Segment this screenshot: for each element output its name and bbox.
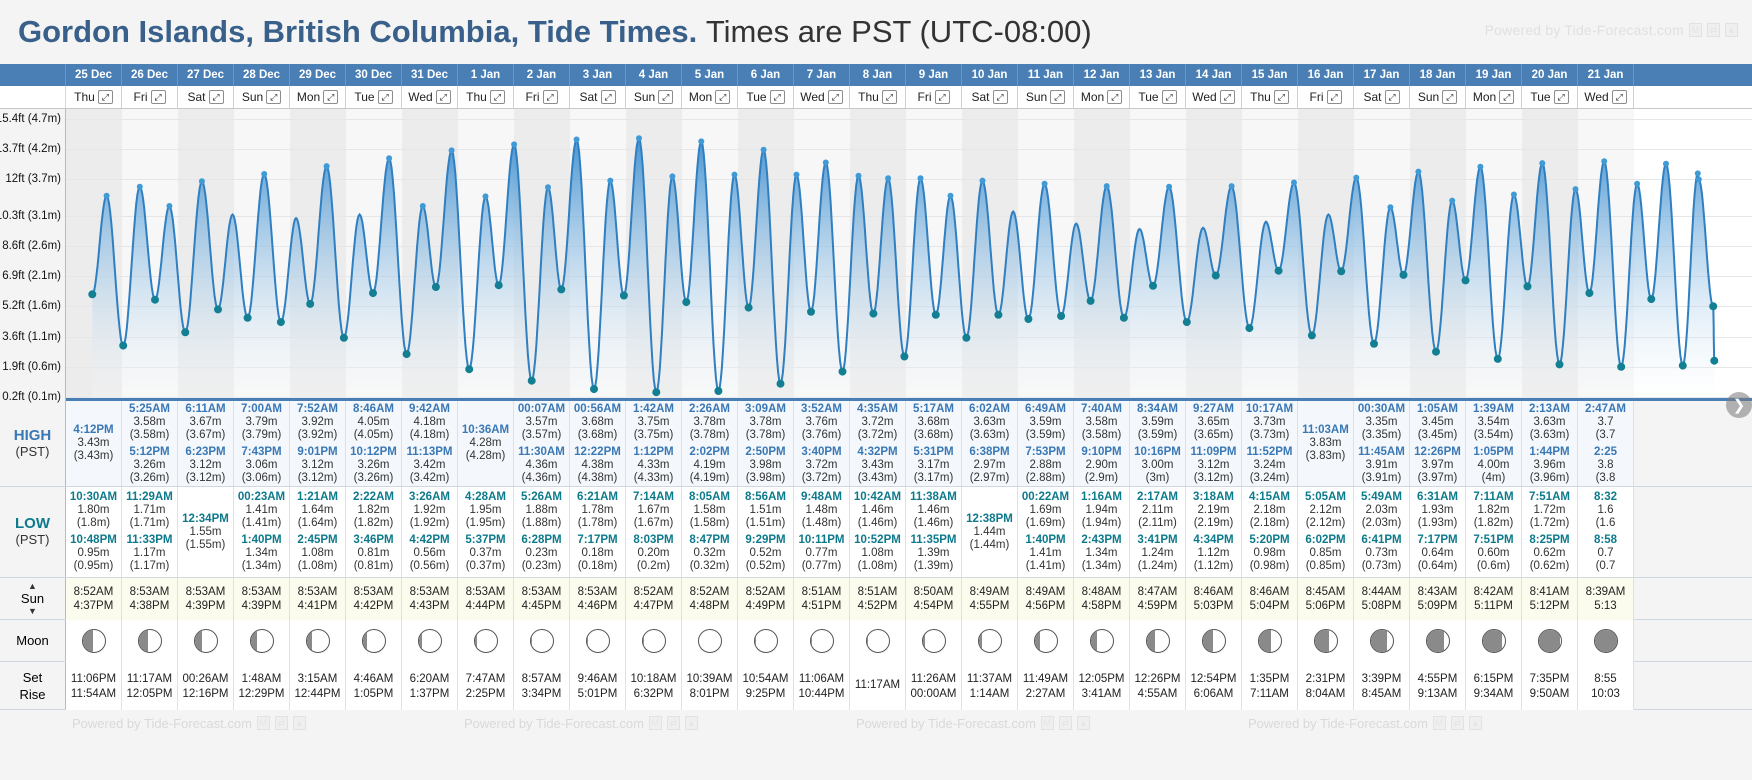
- expand-day-icon[interactable]: ⤢: [993, 90, 1008, 104]
- footer-brand-text: Powered by Tide-Forecast.com: [1248, 716, 1428, 731]
- high-tide-height: 2.88m: [1030, 459, 1062, 472]
- high-tide-cell[interactable]: 2:26AM3.78m(3.78m)2:02PM4.19m(4.19m): [682, 401, 738, 486]
- day-header-cell[interactable]: Mon⤢: [1466, 86, 1522, 108]
- high-tide-cell[interactable]: 2:13AM3.63m(3.63m)1:44PM3.96m(3.96m): [1522, 401, 1578, 486]
- low-tide-time: 8:03PM: [633, 534, 673, 547]
- date-header-cell[interactable]: 18 Jan: [1410, 64, 1466, 86]
- day-header-cell[interactable]: Fri⤢: [514, 86, 570, 108]
- day-header-cell[interactable]: Mon⤢: [682, 86, 738, 108]
- date-header-cell[interactable]: 29 Dec: [290, 64, 346, 86]
- date-header-cell[interactable]: 27 Dec: [178, 64, 234, 86]
- low-tide-tz: (PST): [16, 532, 50, 548]
- high-tide-marker: [794, 172, 800, 178]
- high-tide-cell[interactable]: 10:17AM3.73m(3.73m)11:52PM3.24m(3.24m): [1242, 401, 1298, 486]
- moon-phase-icon: [586, 629, 610, 653]
- moon-setrise-cell: 11:17AM: [850, 662, 906, 710]
- low-tide-cell[interactable]: 2:17AM2.11m(2.11m)3:41PM1.24m(1.24m): [1130, 487, 1186, 577]
- low-tide-event: 3:26AM1.92m(1.92m): [409, 491, 450, 530]
- low-tide-cell[interactable]: 12:34PM1.55m(1.55m): [178, 487, 234, 577]
- high-tide-time: 3:09AM: [745, 403, 786, 416]
- moon-setrise-cell: 9:46AM5:01PM: [570, 662, 626, 710]
- sunrise-time: 8:53AM: [242, 586, 282, 598]
- day-header-cell[interactable]: Tue⤢: [738, 86, 794, 108]
- moon-shadow: [475, 629, 477, 653]
- low-tide-cell[interactable]: 6:21AM1.78m(1.78m)7:17PM0.18m(0.18m): [570, 487, 626, 577]
- expand-day-icon[interactable]: ⤢: [490, 90, 505, 104]
- sun-cell: 8:53AM4:39PM: [234, 578, 290, 620]
- low-tide-time: 8:58: [1594, 534, 1617, 547]
- moon-setrise-cell: 10:39AM8:01PM: [682, 662, 738, 710]
- high-tide-cell[interactable]: 1:39AM3.54m(3.54m)1:05PM4.00m(4m): [1466, 401, 1522, 486]
- moonrise-time: 3:41AM: [1082, 688, 1122, 700]
- high-tide-event: 11:03AM3.83m(3.83m): [1302, 424, 1349, 463]
- day-header-row: Thu⤢Fri⤢Sat⤢Sun⤢Mon⤢Tue⤢Wed⤢Thu⤢Fri⤢Sat⤢…: [0, 86, 1752, 109]
- high-tide-time: 11:03AM: [1302, 424, 1349, 437]
- moon-shadow: [923, 629, 925, 653]
- low-tide-time: 11:38AM: [910, 491, 957, 504]
- high-tide-marker: [1696, 176, 1702, 182]
- high-tide-height-alt: (3.7: [1596, 429, 1616, 442]
- high-tide-time: 12:22PM: [574, 446, 621, 459]
- moon-cell: [626, 620, 682, 662]
- day-header-cell[interactable]: Sat⤢: [178, 86, 234, 108]
- low-tide-cell[interactable]: 11:29AM1.71m(1.71m)11:33PM1.17m(1.17m): [122, 487, 178, 577]
- high-tide-height: 3.45m: [1422, 416, 1454, 429]
- expand-day-icon[interactable]: ⤢: [770, 90, 785, 104]
- low-tide-marker: [528, 377, 536, 385]
- high-tide-cell[interactable]: 11:03AM3.83m(3.83m): [1298, 401, 1354, 486]
- low-tide-height-alt: (1.82m): [1474, 517, 1514, 530]
- low-tide-marker: [1556, 360, 1564, 368]
- expand-day-icon[interactable]: ⤢: [1327, 90, 1342, 104]
- high-tide-event: 10:17AM3.73m(3.73m): [1246, 403, 1293, 442]
- high-tide-time: 2:50PM: [745, 446, 785, 459]
- low-tide-time: 1:21AM: [297, 491, 338, 504]
- day-header-cell[interactable]: Mon⤢: [1074, 86, 1130, 108]
- high-tide-height-alt: (3.79m): [242, 429, 282, 442]
- high-tide-cell[interactable]: 9:27AM3.65m(3.65m)11:09PM3.12m(3.12m): [1186, 401, 1242, 486]
- date-header-cell[interactable]: 2 Jan: [514, 64, 570, 86]
- date-header-cell[interactable]: 4 Jan: [626, 64, 682, 86]
- date-header-cell[interactable]: 5 Jan: [682, 64, 738, 86]
- low-tide-height: 1.93m: [1422, 504, 1454, 517]
- scroll-next-button[interactable]: ❯: [1726, 392, 1752, 418]
- moonrise-time: 8:45AM: [1362, 688, 1402, 700]
- expand-day-icon[interactable]: ⤢: [828, 90, 843, 104]
- high-tide-cell[interactable]: 5:17AM3.68m(3.68m)5:31PM3.17m(3.17m): [906, 401, 962, 486]
- date-header-cell[interactable]: 11 Jan: [1018, 64, 1074, 86]
- low-tide-time: 7:14AM: [633, 491, 674, 504]
- low-tide-cell[interactable]: 5:05AM2.12m(2.12m)6:02PM0.85m(0.85m): [1298, 487, 1354, 577]
- low-tide-event: 7:17PM0.18m(0.18m): [577, 534, 617, 573]
- low-tide-cell[interactable]: 00:22AM1.69m(1.69m)1:40PM1.41m(1.41m): [1018, 487, 1074, 577]
- sun-cell: 8:49AM4:56PM: [1018, 578, 1074, 620]
- high-tide-cell[interactable]: 5:25AM3.58m(3.58m)5:12PM3.26m(3.26m): [122, 401, 178, 486]
- sunrise-time: 8:52AM: [74, 586, 114, 598]
- expand-day-icon[interactable]: ⤢: [543, 90, 558, 104]
- high-tide-event: 00:56AM3.68m(3.68m): [574, 403, 621, 442]
- low-tide-cell[interactable]: 10:30AM1.80m(1.8m)10:48PM0.95m(0.95m): [66, 487, 122, 577]
- date-header-cell[interactable]: 31 Dec: [402, 64, 458, 86]
- high-tide-cell[interactable]: 6:02AM3.63m(3.63m)6:38PM2.97m(2.97m): [962, 401, 1018, 486]
- high-tide-event: 5:12PM3.26m(3.26m): [129, 446, 169, 485]
- sun-label-text: Sun: [21, 591, 44, 607]
- high-tide-event: 11:30AM4.36m(4.36m): [518, 446, 565, 485]
- expand-day-icon[interactable]: ⤢: [1499, 90, 1514, 104]
- expand-day-icon[interactable]: ⤢: [1050, 90, 1065, 104]
- low-tide-time: 3:41PM: [1137, 534, 1177, 547]
- low-tide-time: 10:11PM: [798, 534, 844, 547]
- high-tide-cell[interactable]: 3:09AM3.78m(3.78m)2:50PM3.98m(3.98m): [738, 401, 794, 486]
- day-header-cell[interactable]: Thu⤢: [458, 86, 514, 108]
- low-tide-marker: [277, 318, 285, 326]
- y-axis-tick-label: 13.7ft (4.2m): [0, 143, 61, 155]
- low-tide-height-alt: (1.24m): [1138, 560, 1178, 573]
- moon-setrise-cell: 6:15PM9:34AM: [1466, 662, 1522, 710]
- high-tide-marker: [732, 172, 738, 178]
- chart-plot-area[interactable]: [66, 109, 1752, 401]
- low-tide-event: 5:37PM0.37m(0.37m): [465, 534, 505, 573]
- high-tide-marker: [1291, 180, 1297, 186]
- moonrise-time: 2:25PM: [466, 688, 506, 700]
- day-header-cell[interactable]: Fri⤢: [906, 86, 962, 108]
- tide-curve: [66, 109, 1752, 401]
- day-header-cell[interactable]: Wed⤢: [1578, 86, 1634, 108]
- low-tide-cell[interactable]: 11:38AM1.46m(1.46m)11:35PM1.39m(1.39m): [906, 487, 962, 577]
- date-header-cell[interactable]: 30 Dec: [346, 64, 402, 86]
- high-tide-height: 3.12m: [1198, 459, 1230, 472]
- date-header-cell[interactable]: 25 Dec: [66, 64, 122, 86]
- low-tide-time: 6:21AM: [577, 491, 618, 504]
- sunset-time: 4:51PM: [802, 600, 842, 612]
- high-tide-height-alt: (4.19m): [690, 472, 730, 485]
- low-tide-marker: [306, 300, 314, 308]
- low-tide-cell[interactable]: 2:22AM1.82m(1.82m)3:46PM0.81m(0.81m): [346, 487, 402, 577]
- day-header-label: Wed: [800, 90, 824, 104]
- low-tide-cell[interactable]: 9:48AM1.48m(1.48m)10:11PM0.77m(0.77m): [794, 487, 850, 577]
- high-tide-cell[interactable]: 6:49AM3.59m(3.59m)7:53PM2.88m(2.88m): [1018, 401, 1074, 486]
- footer-brand-text: Powered by Tide-Forecast.com: [464, 716, 644, 731]
- high-tide-marker: [607, 178, 613, 184]
- date-header-cell[interactable]: 6 Jan: [738, 64, 794, 86]
- moon-cell: [234, 620, 290, 662]
- high-tide-cell[interactable]: 2:47AM3.7(3.72:253.8(3.8: [1578, 401, 1634, 486]
- low-tide-cell[interactable]: 1:21AM1.64m(1.64m)2:45PM1.08m(1.08m): [290, 487, 346, 577]
- date-header-cell[interactable]: 17 Jan: [1354, 64, 1410, 86]
- high-tide-height: 3.73m: [1254, 416, 1286, 429]
- moon-setrise-cell: 11:37AM1:14AM: [962, 662, 1018, 710]
- expand-day-icon[interactable]: ⤢: [1107, 90, 1122, 104]
- expand-day-icon[interactable]: ⤢: [1442, 90, 1457, 104]
- high-tide-cell[interactable]: 3:52AM3.76m(3.76m)3:40PM3.72m(3.72m): [794, 401, 850, 486]
- low-tide-cell[interactable]: 7:14AM1.67m(1.67m)8:03PM0.20m(0.2m): [626, 487, 682, 577]
- expand-day-icon[interactable]: ⤢: [1554, 90, 1569, 104]
- low-tide-time: 9:48AM: [801, 491, 842, 504]
- day-header-cell[interactable]: Sun⤢: [626, 86, 682, 108]
- moonrise-time: 9:50AM: [1530, 688, 1570, 700]
- low-tide-cell[interactable]: 00:23AM1.41m(1.41m)1:40PM1.34m(1.34m): [234, 487, 290, 577]
- sun-label: ▲ Sun ▼: [0, 578, 66, 619]
- high-tide-marker: [386, 155, 392, 161]
- high-tide-cell[interactable]: 7:00AM3.79m(3.79m)7:43PM3.06m(3.06m): [234, 401, 290, 486]
- day-header-cell[interactable]: Thu⤢: [66, 86, 122, 108]
- low-tide-marker: [745, 304, 753, 312]
- high-tide-cell[interactable]: 6:11AM3.67m(3.67m)6:23PM3.12m(3.12m): [178, 401, 234, 486]
- footer-badge-2-icon: ▲: [685, 716, 698, 730]
- high-tide-height-alt: (3.06m): [242, 472, 282, 485]
- date-header-cell[interactable]: 13 Jan: [1130, 64, 1186, 86]
- expand-day-icon[interactable]: ⤢: [601, 90, 616, 104]
- high-tide-tz: (PST): [16, 444, 50, 460]
- day-header-cell[interactable]: Tue⤢: [1522, 86, 1578, 108]
- expand-day-icon[interactable]: ⤢: [266, 90, 281, 104]
- date-header-cell[interactable]: 21 Jan: [1578, 64, 1634, 86]
- expand-day-icon[interactable]: ⤢: [1162, 90, 1177, 104]
- moon-phase-icon: [642, 629, 666, 653]
- low-tide-height-alt: (1.72m): [1530, 517, 1570, 530]
- date-header-cell[interactable]: 1 Jan: [458, 64, 514, 86]
- high-tide-time: 7:52AM: [297, 403, 338, 416]
- high-tide-height-alt: (3.12m): [298, 472, 338, 485]
- low-tide-height: 1.71m: [134, 504, 166, 517]
- low-tide-cell[interactable]: 3:26AM1.92m(1.92m)4:42PM0.56m(0.56m): [402, 487, 458, 577]
- expand-day-icon[interactable]: ⤢: [151, 90, 166, 104]
- moonrise-time: 1:05PM: [354, 688, 394, 700]
- low-tide-height-alt: (0.95m): [74, 560, 114, 573]
- day-header-cell[interactable]: Wed⤢: [794, 86, 850, 108]
- date-header-cell[interactable]: 20 Jan: [1522, 64, 1578, 86]
- day-header-cell[interactable]: Sat⤢: [1354, 86, 1410, 108]
- day-header-cell[interactable]: Thu⤢: [850, 86, 906, 108]
- moon-phase-icon: [810, 629, 834, 653]
- low-tide-event: 8:580.7(0.7: [1594, 534, 1617, 573]
- low-tide-cell[interactable]: 5:49AM2.03m(2.03m)6:41PM0.73m(0.73m): [1354, 487, 1410, 577]
- expand-day-icon[interactable]: ⤢: [935, 90, 950, 104]
- high-tide-cell[interactable]: 9:42AM4.18m(4.18m)11:13PM3.42m(3.42m): [402, 401, 458, 486]
- high-tide-height-alt: (3.43m): [74, 450, 114, 463]
- low-tide-marker: [590, 385, 598, 393]
- moonrise-time: 9:13AM: [1418, 688, 1458, 700]
- low-tide-event: 8:05AM1.58m(1.58m): [689, 491, 730, 530]
- moon-cell: [1522, 620, 1578, 662]
- high-tide-time: 6:38PM: [969, 446, 1009, 459]
- high-tide-cell[interactable]: 4:12PM3.43m(3.43m): [66, 401, 122, 486]
- low-tide-height-alt: (0.32m): [690, 560, 730, 573]
- low-tide-time: 8:56AM: [745, 491, 786, 504]
- high-tide-marker: [574, 137, 580, 143]
- footer-brand-text: Powered by Tide-Forecast.com: [856, 716, 1036, 731]
- low-tide-event: 1:40PM1.41m(1.41m): [1025, 534, 1065, 573]
- high-tide-event: 4:12PM3.43m(3.43m): [73, 424, 113, 463]
- high-tide-height: 3.26m: [134, 459, 166, 472]
- date-header-cell[interactable]: 26 Dec: [122, 64, 178, 86]
- day-header-cell[interactable]: Thu⤢: [1242, 86, 1298, 108]
- high-tide-time: 1:05AM: [1417, 403, 1458, 416]
- moon-setrise-cell: 7:47AM2:25PM: [458, 662, 514, 710]
- date-header-cell[interactable]: 7 Jan: [794, 64, 850, 86]
- expand-day-icon[interactable]: ⤢: [1220, 90, 1235, 104]
- high-tide-cell[interactable]: 00:56AM3.68m(3.68m)12:22PM4.38m(4.38m): [570, 401, 626, 486]
- low-tide-cell[interactable]: 8:56AM1.51m(1.51m)9:29PM0.52m(0.52m): [738, 487, 794, 577]
- expand-day-icon[interactable]: ⤢: [98, 90, 113, 104]
- y-axis-tick-label: 12ft (3.7m): [5, 173, 61, 185]
- low-tide-event: 5:26AM1.88m(1.88m): [521, 491, 562, 530]
- date-header-cell[interactable]: 14 Jan: [1186, 64, 1242, 86]
- expand-day-icon[interactable]: ⤢: [1385, 90, 1400, 104]
- high-tide-cell[interactable]: 7:40AM3.58m(3.58m)9:10PM2.90m(2.9m): [1074, 401, 1130, 486]
- low-tide-marker: [1400, 271, 1408, 279]
- y-axis-tick-label: 15.4ft (4.7m): [0, 113, 61, 125]
- expand-day-icon[interactable]: ⤢: [209, 90, 224, 104]
- expand-day-icon[interactable]: ⤢: [658, 90, 673, 104]
- high-tide-marker: [1511, 192, 1517, 198]
- moonset-time: 1:35PM: [1250, 673, 1290, 685]
- low-tide-cell[interactable]: 7:51AM1.72m(1.72m)8:25PM0.62m(0.62m): [1522, 487, 1578, 577]
- day-header-cell[interactable]: Fri⤢: [122, 86, 178, 108]
- low-tide-cell[interactable]: 5:26AM1.88m(1.88m)6:28PM0.23m(0.23m): [514, 487, 570, 577]
- expand-day-icon[interactable]: ⤢: [715, 90, 730, 104]
- low-tide-height: 1.95m: [470, 504, 502, 517]
- high-tide-marker: [948, 193, 954, 199]
- low-tide-event: 1:21AM1.64m(1.64m): [297, 491, 338, 530]
- high-tide-cell[interactable]: 8:34AM3.59m(3.59m)10:16PM3.00m(3m): [1130, 401, 1186, 486]
- low-tide-label-text: LOW: [15, 516, 50, 532]
- high-tide-cell[interactable]: 1:42AM3.75m(3.75m)1:12PM4.33m(4.33m): [626, 401, 682, 486]
- sunrise-time: 8:53AM: [410, 586, 450, 598]
- moon-row: Moon: [0, 620, 1752, 662]
- date-header-cell[interactable]: 28 Dec: [234, 64, 290, 86]
- high-tide-height: 3.59m: [1030, 416, 1062, 429]
- moon-cell: [682, 620, 738, 662]
- low-tide-cell[interactable]: 8:321.6(1.68:580.7(0.7: [1578, 487, 1634, 577]
- low-tide-height-alt: (1.46m): [858, 517, 898, 530]
- y-axis-tick-label: 3.6ft (1.1m): [2, 331, 61, 343]
- day-header-cell[interactable]: Sat⤢: [962, 86, 1018, 108]
- moon-cell: [1354, 620, 1410, 662]
- day-header-cell[interactable]: Tue⤢: [346, 86, 402, 108]
- brand-badge-triangle-icon: ▲: [1725, 23, 1738, 37]
- low-tide-cell[interactable]: 4:28AM1.95m(1.95m)5:37PM0.37m(0.37m): [458, 487, 514, 577]
- date-header-cell[interactable]: 12 Jan: [1074, 64, 1130, 86]
- moon-setrise-row: Set Rise 11:06PM11:54AM11:17AM12:05PM00:…: [0, 662, 1752, 710]
- high-tide-label-text: HIGH: [14, 428, 52, 444]
- day-header-cell[interactable]: Tue⤢: [1130, 86, 1186, 108]
- day-header-cell[interactable]: Fri⤢: [1298, 86, 1354, 108]
- moonset-time: 11:49AM: [1023, 673, 1068, 685]
- high-tide-height: 3.58m: [1086, 416, 1118, 429]
- expand-day-icon[interactable]: ⤢: [378, 90, 393, 104]
- expand-day-icon[interactable]: ⤢: [1612, 90, 1627, 104]
- high-tide-event: 1:05AM3.45m(3.45m): [1417, 403, 1458, 442]
- moon-shadow: [1427, 629, 1445, 653]
- low-tide-cell[interactable]: 6:31AM1.93m(1.93m)7:17PM0.64m(0.64m): [1410, 487, 1466, 577]
- low-tide-cell[interactable]: 12:38PM1.44m(1.44m): [962, 487, 1018, 577]
- low-tide-marker: [994, 311, 1002, 319]
- high-tide-marker: [856, 173, 862, 179]
- high-tide-time: 2:47AM: [1585, 403, 1626, 416]
- sunset-time: 5:06PM: [1306, 600, 1346, 612]
- low-tide-cell[interactable]: 7:11AM1.82m(1.82m)7:51PM0.60m(0.6m): [1466, 487, 1522, 577]
- date-header-cell[interactable]: 19 Jan: [1466, 64, 1522, 86]
- sunrise-time: 8:39AM: [1586, 586, 1626, 598]
- high-tide-cell[interactable]: 7:52AM3.92m(3.92m)9:01PM3.12m(3.12m): [290, 401, 346, 486]
- moonrise-time: 12:05PM: [126, 688, 172, 700]
- date-header-cell[interactable]: 8 Jan: [850, 64, 906, 86]
- moonset-time: 2:31PM: [1306, 673, 1346, 685]
- high-tide-time: 1:39AM: [1473, 403, 1514, 416]
- sunset-time: 4:54PM: [914, 600, 954, 612]
- low-tide-time: 8:25PM: [1529, 534, 1569, 547]
- low-tide-height: 2.19m: [1198, 504, 1230, 517]
- moon-phase-icon: [978, 629, 1002, 653]
- day-header-cell[interactable]: Sun⤢: [1018, 86, 1074, 108]
- sunset-time: 4:37PM: [74, 600, 114, 612]
- low-tide-cell[interactable]: 3:18AM2.19m(2.19m)4:34PM1.12m(1.12m): [1186, 487, 1242, 577]
- low-tide-time: 00:22AM: [1022, 491, 1069, 504]
- day-header-label: Sun: [634, 90, 655, 104]
- day-header-cell[interactable]: Sun⤢: [1410, 86, 1466, 108]
- low-tide-time: 6:41PM: [1361, 534, 1401, 547]
- high-tide-cell[interactable]: 8:46AM4.05m(4.05m)10:12PM3.26m(3.26m): [346, 401, 402, 486]
- sun-cell: 8:42AM5:11PM: [1466, 578, 1522, 620]
- day-header-cell[interactable]: Wed⤢: [402, 86, 458, 108]
- high-tide-height: 3.98m: [750, 459, 782, 472]
- high-tide-cell[interactable]: 00:30AM3.35m(3.35m)11:45AM3.91m(3.91m): [1354, 401, 1410, 486]
- high-tide-height-alt: (4.28m): [466, 450, 506, 463]
- low-tide-time: 1:16AM: [1081, 491, 1122, 504]
- sunrise-time: 8:43AM: [1418, 586, 1458, 598]
- high-tide-cell[interactable]: 10:36AM4.28m(4.28m): [458, 401, 514, 486]
- expand-day-icon[interactable]: ⤢: [882, 90, 897, 104]
- high-tide-event: 9:01PM3.12m(3.12m): [297, 446, 337, 485]
- page-header: Gordon Islands, British Columbia, Tide T…: [0, 0, 1752, 64]
- day-header-cell[interactable]: Sun⤢: [234, 86, 290, 108]
- low-tide-height: 0.60m: [1478, 547, 1510, 560]
- moon-setrise-label: Set Rise: [0, 662, 66, 709]
- moonset-time: 12:26PM: [1134, 673, 1180, 685]
- sunrise-time: 8:52AM: [746, 586, 786, 598]
- y-axis-tick-label: 10.3ft (3.1m): [0, 210, 61, 222]
- moonrise-time: 3:34PM: [522, 688, 562, 700]
- low-tide-cell[interactable]: 4:15AM2.18m(2.18m)5:20PM0.98m(0.98m): [1242, 487, 1298, 577]
- date-header-cell[interactable]: 9 Jan: [906, 64, 962, 86]
- date-header-cell[interactable]: 10 Jan: [962, 64, 1018, 86]
- low-tide-cell[interactable]: 8:05AM1.58m(1.58m)8:47PM0.32m(0.32m): [682, 487, 738, 577]
- date-header-cell[interactable]: 16 Jan: [1298, 64, 1354, 86]
- expand-day-icon[interactable]: ⤢: [1274, 90, 1289, 104]
- high-tide-cell[interactable]: 4:35AM3.72m(3.72m)4:32PM3.43m(3.43m): [850, 401, 906, 486]
- low-tide-height-alt: (1.44m): [970, 539, 1010, 552]
- day-header-cell[interactable]: Wed⤢: [1186, 86, 1242, 108]
- date-header-cell[interactable]: 15 Jan: [1242, 64, 1298, 86]
- high-tide-cell[interactable]: 1:05AM3.45m(3.45m)12:26PM3.97m(3.97m): [1410, 401, 1466, 486]
- moon-setrise-cell: 00:26AM12:16PM: [178, 662, 234, 710]
- low-tide-height-alt: (0.98m): [1250, 560, 1290, 573]
- moonrise-time: 00:00AM: [910, 688, 956, 700]
- low-tide-cell[interactable]: 10:42AM1.46m(1.46m)10:52PM1.08m(1.08m): [850, 487, 906, 577]
- day-header-cell[interactable]: Sat⤢: [570, 86, 626, 108]
- high-tide-marker: [1695, 170, 1701, 176]
- high-tide-cell[interactable]: 00:07AM3.57m(3.57m)11:30AM4.36m(4.36m): [514, 401, 570, 486]
- high-tide-height-alt: (3.72m): [802, 472, 842, 485]
- day-header-cell[interactable]: Mon⤢: [290, 86, 346, 108]
- low-tide-cell[interactable]: 1:16AM1.94m(1.94m)2:43PM1.34m(1.34m): [1074, 487, 1130, 577]
- moon-setrise-cell: 11:49AM2:27AM: [1018, 662, 1074, 710]
- date-header-cell[interactable]: 3 Jan: [570, 64, 626, 86]
- high-tide-height: 3.65m: [1198, 416, 1230, 429]
- expand-day-icon[interactable]: ⤢: [323, 90, 338, 104]
- expand-day-icon[interactable]: ⤢: [436, 90, 451, 104]
